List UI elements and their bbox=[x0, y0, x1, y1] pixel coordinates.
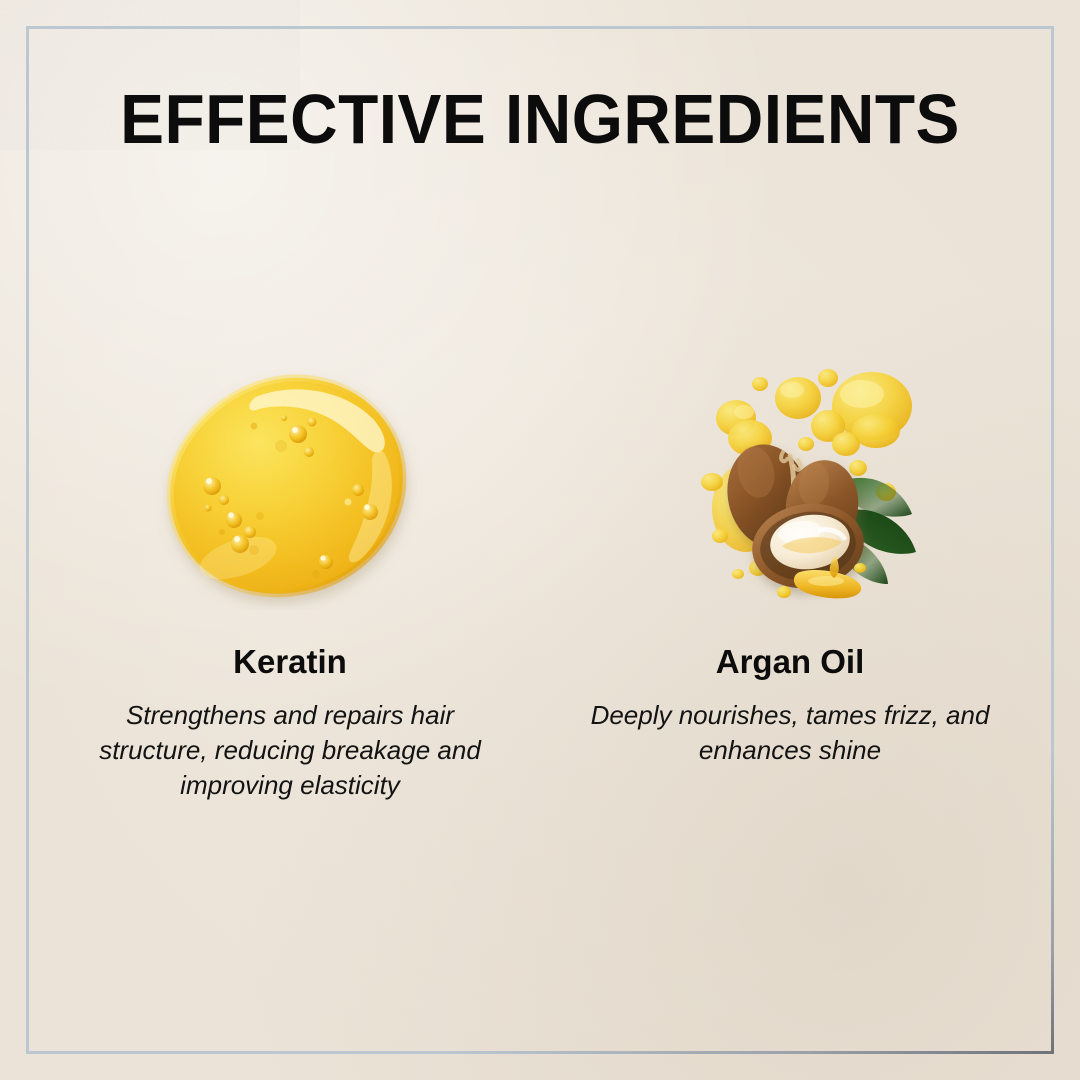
page-title: EFFECTIVE INGREDIENTS bbox=[32, 84, 1047, 154]
oil-drop-illustration bbox=[150, 360, 430, 610]
ingredient-description: Strengthens and repairs hair structure, … bbox=[80, 698, 500, 803]
frame-right-edge bbox=[1051, 26, 1054, 1054]
ingredient-description: Deeply nourishes, tames frizz, and enhan… bbox=[570, 698, 1010, 768]
ingredient-name: Argan Oil bbox=[716, 644, 865, 680]
ingredient-card-keratin: Keratin Strengthens and repairs hair str… bbox=[40, 360, 540, 804]
ingredients-row: Keratin Strengthens and repairs hair str… bbox=[40, 360, 1040, 804]
ingredient-name: Keratin bbox=[233, 644, 347, 680]
argan-nuts-illustration bbox=[650, 360, 930, 610]
ingredient-card-argan-oil: Argan Oil Deeply nourishes, tames frizz,… bbox=[540, 360, 1040, 768]
poster-canvas: EFFECTIVE INGREDIENTS bbox=[0, 0, 1080, 1080]
frame-bottom-edge bbox=[26, 1051, 1054, 1054]
